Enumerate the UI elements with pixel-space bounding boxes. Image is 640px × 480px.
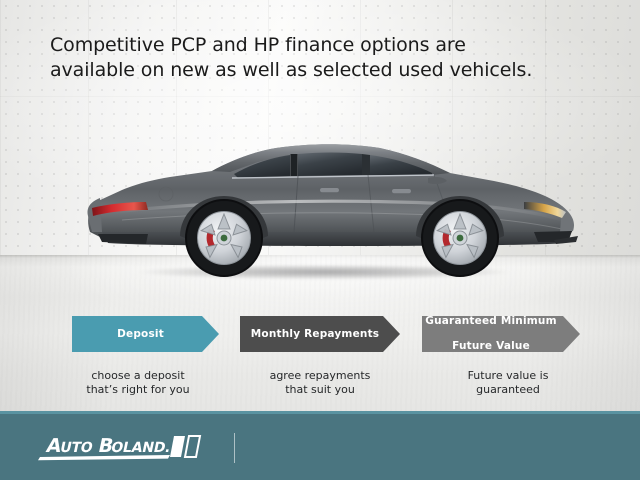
caption-monthly-repayments-line-1: agree repayments (270, 369, 371, 382)
hero-car-image (62, 128, 582, 280)
caption-deposit-line-2: that’s right for you (86, 383, 189, 396)
auto-boland-logo[interactable]: A UTO B OLAND. (34, 430, 214, 464)
step-arrow-deposit[interactable]: Deposit (72, 316, 219, 352)
step-arrow-gmfv-label-line-1: Guaranteed Minimum (425, 315, 566, 328)
headline-line-2: available on new as well as selected use… (50, 58, 595, 83)
svg-text:UTO: UTO (58, 440, 94, 456)
step-arrow-monthly-repayments-label: Monthly Repayments (251, 328, 389, 341)
caption-monthly-repayments-line-2: that suit you (285, 383, 355, 396)
caption-gmfv: Future value is guaranteed (424, 369, 592, 397)
caption-monthly-repayments: agree repayments that suit you (228, 369, 412, 397)
footer-bar: A UTO B OLAND. (0, 411, 640, 480)
svg-text:OLAND.: OLAND. (109, 440, 171, 456)
footer-content: A UTO B OLAND. (0, 414, 640, 480)
double-bar-icon (170, 436, 200, 457)
caption-gmfv-line-1: Future value is (468, 369, 549, 382)
headline: Competitive PCP and HP finance options a… (50, 33, 595, 83)
caption-gmfv-line-2: guaranteed (476, 383, 540, 396)
step-captions: choose a deposit that’s right for you ag… (0, 369, 640, 405)
footer-divider (234, 433, 235, 463)
headline-line-1: Competitive PCP and HP finance options a… (50, 34, 466, 56)
step-arrow-guaranteed-minimum-future-value[interactable]: Guaranteed MinimumFuture Value (422, 316, 580, 352)
step-arrow-gmfv-label: Guaranteed MinimumFuture Value (425, 315, 576, 353)
step-arrow-gmfv-label-line-2: Future Value (425, 340, 566, 353)
caption-deposit: choose a deposit that’s right for you (52, 369, 224, 397)
caption-deposit-line-1: choose a deposit (91, 369, 184, 382)
finance-process-steps: Deposit Monthly Repayments Guaranteed Mi… (0, 316, 640, 352)
step-arrow-deposit-label: Deposit (117, 328, 174, 341)
step-arrow-monthly-repayments[interactable]: Monthly Repayments (240, 316, 400, 352)
finance-promo-slide: Competitive PCP and HP finance options a… (0, 0, 640, 480)
